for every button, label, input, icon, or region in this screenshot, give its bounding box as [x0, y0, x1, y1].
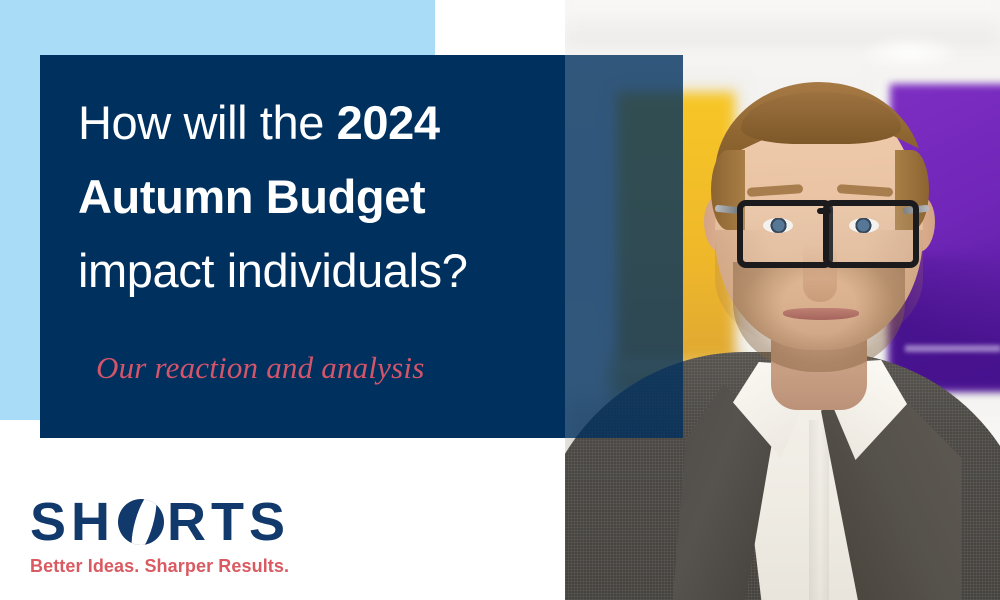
brand-tagline: Better Ideas. Sharper Results. [30, 556, 290, 577]
headline-line-2-bold: Autumn Budget [78, 170, 425, 223]
headline-line-2: Autumn Budget [78, 160, 678, 234]
shirt-placket [809, 420, 829, 600]
headline-line-1-bold: 2024 [337, 96, 440, 149]
page-title: How will the 2024 Autumn Budget impact i… [78, 86, 678, 308]
mouth [783, 308, 859, 320]
logo-wordmark: SH RTS [30, 495, 290, 549]
headline-line-3: impact individuals? [78, 234, 678, 308]
logo-text-rts: RTS [167, 491, 290, 553]
glasses-bridge [817, 208, 831, 214]
glasses-lens-right [823, 200, 919, 268]
brand-logo[interactable]: SH RTS Better Ideas. Sharper Results. [30, 495, 290, 577]
subtitle: Our reaction and analysis [96, 350, 424, 386]
headline-line-1: How will the 2024 [78, 86, 678, 160]
headline-line-1-plain: How will the [78, 96, 337, 149]
leaf-circle-o-icon [118, 499, 164, 545]
logo-text-sh: SH [30, 491, 115, 553]
promo-banner: How will the 2024 Autumn Budget impact i… [0, 0, 1000, 600]
